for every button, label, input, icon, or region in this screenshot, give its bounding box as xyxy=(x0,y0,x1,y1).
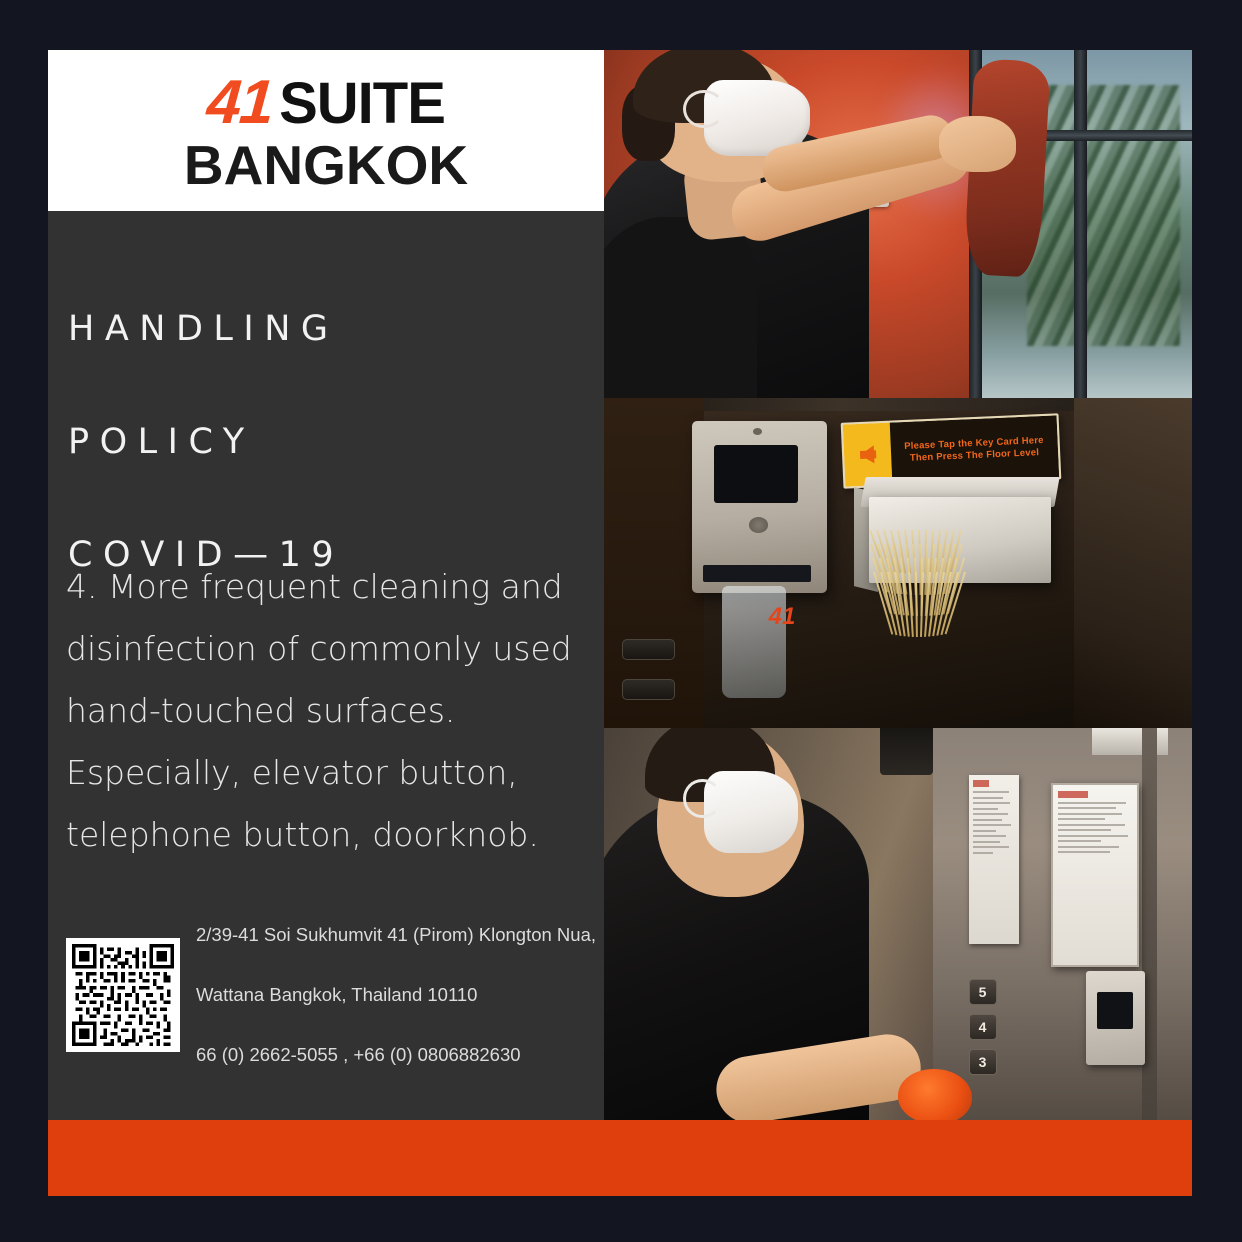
ceiling-vent xyxy=(880,728,933,775)
poster-card: 41 SUITE BANGKOK HANDLING POLICY COVID—1… xyxy=(48,50,1192,1196)
elevator-keycard-reader xyxy=(1086,971,1145,1065)
sign-text: Please Tap the Key Card Here Then Press … xyxy=(890,415,1059,484)
reader-screen xyxy=(714,445,798,503)
staff-shoulder xyxy=(604,217,757,398)
reader-button[interactable] xyxy=(749,517,768,532)
logo-primary-line: 41 SUITE xyxy=(207,72,445,134)
staff-hand xyxy=(939,116,1015,172)
toothpicks xyxy=(869,530,1075,682)
photo-door-handle-cleaning xyxy=(604,50,1192,398)
elevator-floor-button-3[interactable]: 3 xyxy=(969,1049,997,1075)
door-frame-middle xyxy=(1074,50,1087,398)
face-mask-icon xyxy=(704,771,798,853)
logo-number: 41 xyxy=(205,72,274,134)
elevator-call-button-up[interactable] xyxy=(622,639,675,660)
photo-keycard-reader-toothpicks: Please Tap the Key Card Here Then Press … xyxy=(604,398,1192,728)
address-phone: 66 (0) 2662-5055 , +66 (0) 0806882630 xyxy=(196,1040,596,1070)
elevator-floor-buttons[interactable]: 543 xyxy=(969,979,998,1084)
brand-logo: 41 SUITE BANGKOK xyxy=(48,50,604,211)
address-line-2: Wattana Bangkok, Thailand 10110 xyxy=(196,980,596,1010)
contact-address: 2/39-41 Soi Sukhumvit 41 (Pirom) Klongto… xyxy=(196,890,596,1100)
photo-column: Please Tap the Key Card Here Then Press … xyxy=(604,50,1192,1120)
left-content-panel: 41 SUITE BANGKOK HANDLING POLICY COVID—1… xyxy=(48,50,604,1120)
elevator-floor-button-5[interactable]: 5 xyxy=(969,979,997,1005)
cleaning-cloth xyxy=(898,1069,972,1120)
keycard-reader xyxy=(692,421,827,593)
address-line-1: 2/39-41 Soi Sukhumvit 41 (Pirom) Klongto… xyxy=(196,920,596,950)
card-body: 41 SUITE BANGKOK HANDLING POLICY COVID—1… xyxy=(48,50,1192,1120)
logo-word: SUITE xyxy=(279,75,445,133)
accent-footer-bar xyxy=(48,1120,1192,1196)
page-title-line-2: POLICY xyxy=(68,414,344,471)
left-panel-inner: HANDLING POLICY COVID—19 4. More frequen… xyxy=(48,211,604,1120)
policy-body-text: 4. More frequent cleaning and disinfecti… xyxy=(66,556,594,866)
photo-elevator-button-cleaning: 543 xyxy=(604,728,1192,1120)
certificate-logo-mark xyxy=(1058,791,1088,798)
contact-footer: 2/39-41 Soi Sukhumvit 41 (Pirom) Klongto… xyxy=(66,890,596,1100)
elevator-notice-left xyxy=(969,775,1019,944)
page-title-line-1: HANDLING xyxy=(68,301,344,358)
outdoor-greenery xyxy=(1027,85,1180,346)
logo-city: BANGKOK xyxy=(184,137,468,195)
elevator-certificate-right xyxy=(1051,783,1139,967)
ceiling-light xyxy=(1092,728,1168,755)
notice-logo-mark xyxy=(973,780,990,787)
elevator-wall-right xyxy=(1074,398,1192,728)
face-mask-strap xyxy=(683,779,721,818)
reader-indicator-led xyxy=(753,428,762,435)
elevator-floor-button-4[interactable]: 4 xyxy=(969,1014,997,1040)
qr-code-icon xyxy=(72,944,174,1046)
reader-brand-label xyxy=(703,565,811,582)
elevator-call-button-down[interactable] xyxy=(622,679,675,700)
face-mask-strap xyxy=(683,90,724,128)
poster-canvas: 41 SUITE BANGKOK HANDLING POLICY COVID—1… xyxy=(0,0,1242,1242)
qr-code[interactable] xyxy=(66,938,180,1052)
bottle-logo: 41 xyxy=(769,603,804,636)
